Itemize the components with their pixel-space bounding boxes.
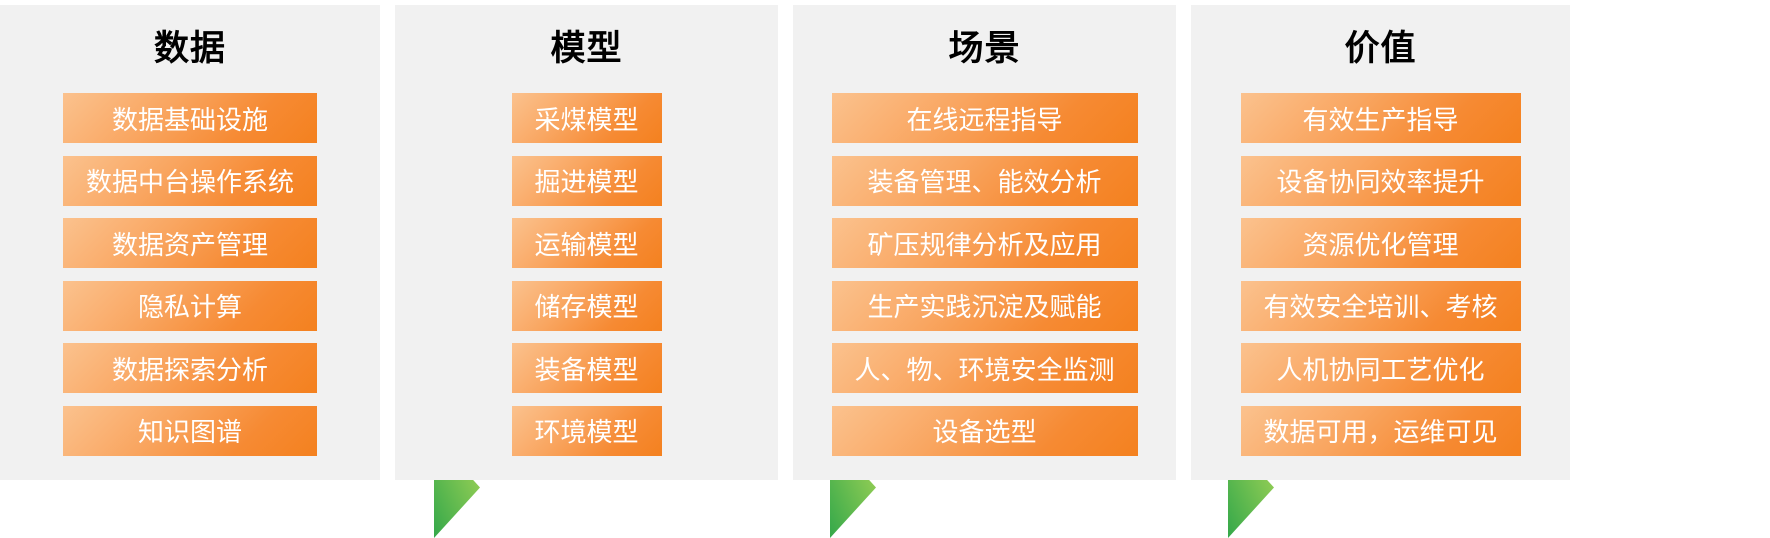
- stage-item[interactable]: 运输模型: [512, 218, 662, 268]
- panel-title-model: 模型: [395, 27, 778, 71]
- stage-item[interactable]: 数据资产管理: [63, 218, 317, 268]
- stage-item[interactable]: 设备选型: [832, 406, 1138, 456]
- stage-item[interactable]: 装备管理、能效分析: [832, 156, 1138, 206]
- panel-title-scenario: 场景: [793, 27, 1176, 71]
- stage-item[interactable]: 储存模型: [512, 281, 662, 331]
- panel-title-data: 数据: [0, 27, 380, 71]
- stage-item[interactable]: 设备协同效率提升: [1241, 156, 1521, 206]
- stage-item[interactable]: 有效生产指导: [1241, 93, 1521, 143]
- stage-item[interactable]: 数据探索分析: [63, 343, 317, 393]
- stage-item[interactable]: 数据可用，运维可见: [1241, 406, 1521, 456]
- stage-item[interactable]: 环境模型: [512, 406, 662, 456]
- stage-item[interactable]: 人、物、环境安全监测: [832, 343, 1138, 393]
- stage-item[interactable]: 掘进模型: [512, 156, 662, 206]
- stage-item[interactable]: 矿压规律分析及应用: [832, 218, 1138, 268]
- stage-panel-data: 数据 数据基础设施 数据中台操作系统 数据资产管理 隐私计算 数据探索分析 知识…: [0, 5, 380, 480]
- stage-item[interactable]: 人机协同工艺优化: [1241, 343, 1521, 393]
- panel-item-list-model: 采煤模型 掘进模型 运输模型 储存模型 装备模型 环境模型: [395, 93, 778, 469]
- panel-item-list-scenario: 在线远程指导 装备管理、能效分析 矿压规律分析及应用 生产实践沉淀及赋能 人、物…: [793, 93, 1176, 469]
- panel-item-list-value: 有效生产指导 设备协同效率提升 资源优化管理 有效安全培训、考核 人机协同工艺优…: [1191, 93, 1570, 469]
- panel-item-list-data: 数据基础设施 数据中台操作系统 数据资产管理 隐私计算 数据探索分析 知识图谱: [0, 93, 380, 469]
- stage-item[interactable]: 资源优化管理: [1241, 218, 1521, 268]
- stage-panel-model: 模型 采煤模型 掘进模型 运输模型 储存模型 装备模型 环境模型: [395, 5, 778, 480]
- stage-panel-scenario: 场景 在线远程指导 装备管理、能效分析 矿压规律分析及应用 生产实践沉淀及赋能 …: [793, 5, 1176, 480]
- process-flow-diagram: 数据 数据基础设施 数据中台操作系统 数据资产管理 隐私计算 数据探索分析 知识…: [0, 0, 1770, 538]
- stage-item[interactable]: 知识图谱: [63, 406, 317, 456]
- stage-panel-value: 价值 有效生产指导 设备协同效率提升 资源优化管理 有效安全培训、考核 人机协同…: [1191, 5, 1570, 480]
- stage-item[interactable]: 数据中台操作系统: [63, 156, 317, 206]
- stage-item[interactable]: 隐私计算: [63, 281, 317, 331]
- stage-item[interactable]: 采煤模型: [512, 93, 662, 143]
- panel-title-value: 价值: [1191, 27, 1570, 71]
- stage-item[interactable]: 生产实践沉淀及赋能: [832, 281, 1138, 331]
- stage-item[interactable]: 在线远程指导: [832, 93, 1138, 143]
- stage-item[interactable]: 有效安全培训、考核: [1241, 281, 1521, 331]
- stage-item[interactable]: 装备模型: [512, 343, 662, 393]
- stage-item[interactable]: 数据基础设施: [63, 93, 317, 143]
